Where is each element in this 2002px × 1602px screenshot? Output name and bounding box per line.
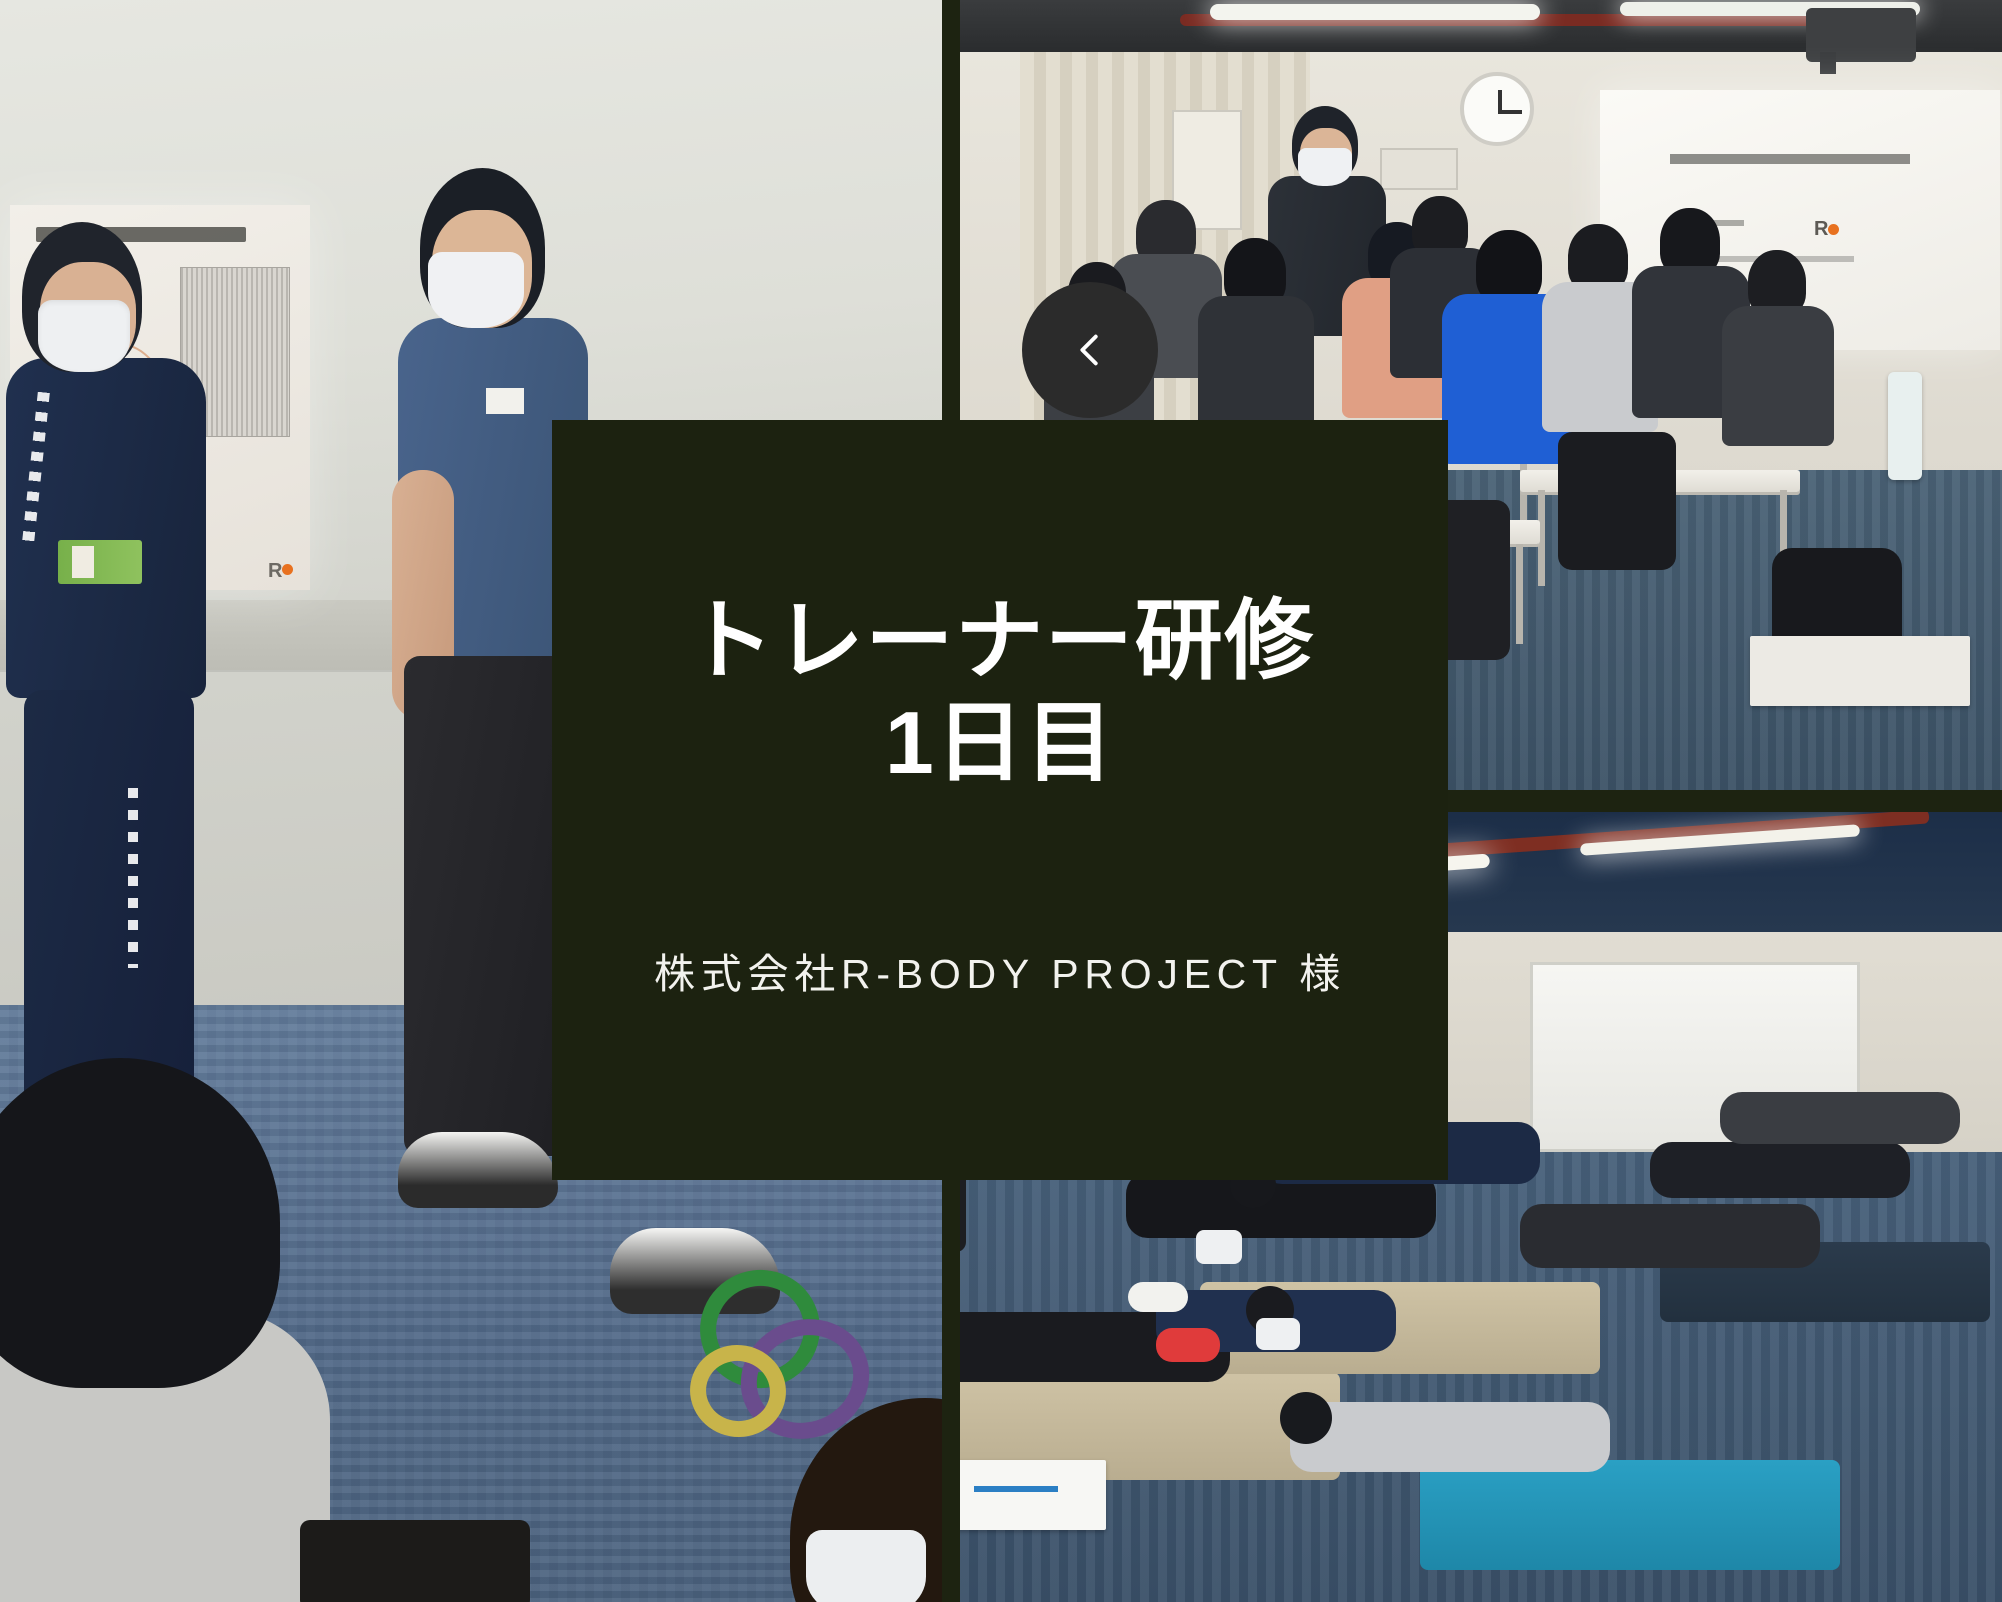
- trainer-b-shoe-right: [398, 1132, 558, 1208]
- participant-shoe-white: [1128, 1282, 1188, 1312]
- ceiling-light-1: [1210, 4, 1540, 20]
- wall-panel-2: [1380, 148, 1458, 190]
- rbody-logo-slide: R: [1814, 218, 1839, 241]
- overlay-card: トレーナー研修 1日目 株式会社R-BODY PROJECT 様: [552, 420, 1448, 1180]
- trainer-a-face-mask: [38, 300, 130, 372]
- gallery-screen: R: [0, 0, 2002, 1602]
- trainer-b-name-tag: [486, 388, 524, 414]
- presenter-face-mask: [1298, 148, 1352, 186]
- white-table-front: [1750, 636, 1970, 706]
- trainer-b-legs: [404, 656, 574, 1156]
- chevron-left-icon: [1067, 327, 1113, 373]
- overlay-subtitle: 株式会社R-BODY PROJECT 様: [654, 940, 1346, 1000]
- participant-head: [1280, 1392, 1332, 1444]
- student-head: [1476, 230, 1542, 304]
- backpack: [1558, 432, 1676, 570]
- exercise-mat-teal: [1420, 1460, 1840, 1570]
- participant-face-mask: [1196, 1230, 1242, 1264]
- foreground-person-2-mask: [806, 1530, 926, 1602]
- foreground-object: [300, 1520, 530, 1602]
- participant-face-mask: [1256, 1318, 1300, 1350]
- participant-plank-6: [1520, 1204, 1820, 1268]
- overlay-title: トレーナー研修 1日目: [686, 590, 1314, 794]
- slide-heading-bar: [1670, 154, 1910, 164]
- water-bottle: [1888, 372, 1922, 480]
- desk-leg: [1516, 544, 1523, 644]
- trainer-b-face-mask: [428, 252, 524, 328]
- participant-plank-8: [1720, 1092, 1960, 1144]
- wall-clock: [1460, 72, 1534, 146]
- worksheet-paper: [960, 1460, 1106, 1530]
- back-button[interactable]: [1022, 282, 1158, 418]
- projector: [1806, 8, 1916, 62]
- participant-shoe-red: [1156, 1328, 1220, 1362]
- student-body: [1722, 306, 1834, 446]
- participant-plank-5: [1290, 1402, 1610, 1472]
- participant-plank-7: [1650, 1142, 1910, 1198]
- rbody-logo-left: R: [268, 560, 302, 584]
- trainer-a-chest-badge: [58, 540, 142, 584]
- trainer-a-leg-stripes: [128, 788, 138, 968]
- student-body: [1198, 296, 1314, 436]
